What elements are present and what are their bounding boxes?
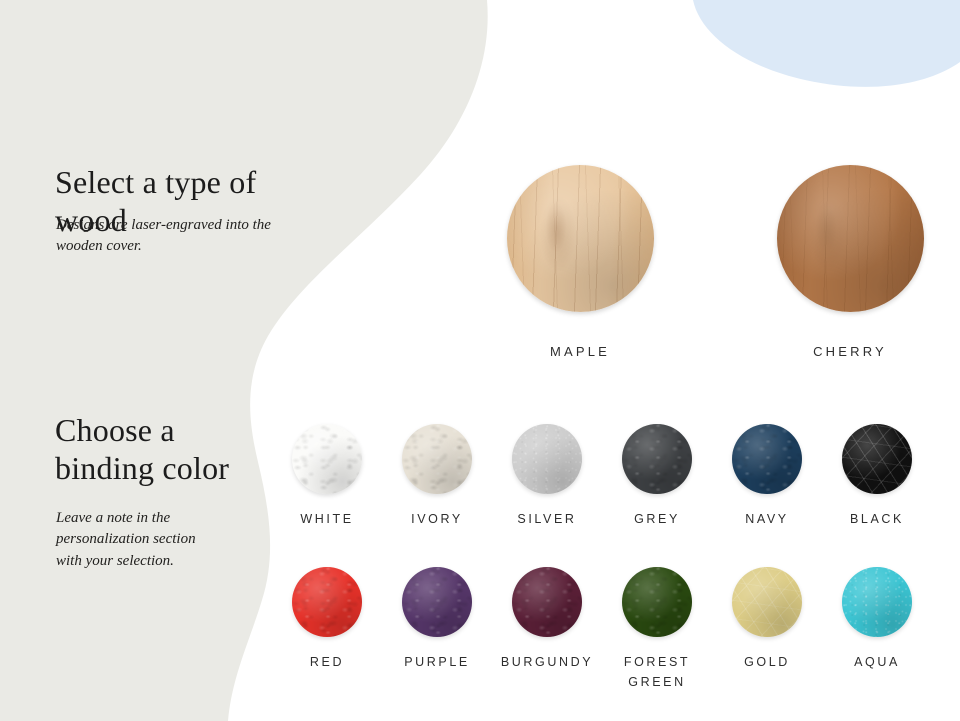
swatch-shading <box>402 424 472 494</box>
color-label-gold: GOLD <box>744 653 790 672</box>
color-swatch-ivory[interactable] <box>402 424 472 494</box>
color-label-black: BLACK <box>850 510 904 529</box>
swatch-shading <box>507 165 654 312</box>
swatch-shading <box>842 567 912 637</box>
color-option-grey[interactable]: GREY <box>602 424 712 529</box>
color-swatch-silver[interactable] <box>512 424 582 494</box>
color-option-gold[interactable]: GOLD <box>712 567 822 692</box>
color-label-burgundy: BURGUNDY <box>501 653 593 672</box>
color-option-white[interactable]: WHITE <box>272 424 382 529</box>
swatch-shading <box>842 424 912 494</box>
color-label-forest-green: FOREST GREEN <box>624 653 690 692</box>
color-label-white: WHITE <box>300 510 353 529</box>
swatch-shading <box>512 424 582 494</box>
color-option-purple[interactable]: PURPLE <box>382 567 492 692</box>
wood-option-cherry[interactable]: CHERRY <box>775 165 925 359</box>
color-option-navy[interactable]: NAVY <box>712 424 822 529</box>
wood-label-maple: MAPLE <box>550 344 610 359</box>
color-section-subtext: Leave a note in the personalization sect… <box>56 508 256 572</box>
swatch-shading <box>292 424 362 494</box>
swatch-shading <box>402 567 472 637</box>
color-label-navy: NAVY <box>745 510 789 529</box>
wood-swatch-row: MAPLE CHERRY <box>505 165 925 359</box>
binding-color-grid: WHITE IVORY SILVER <box>272 424 932 692</box>
color-section-heading: Choose a binding color <box>55 412 229 488</box>
swatch-shading <box>292 567 362 637</box>
swatch-shading <box>732 424 802 494</box>
color-label-purple: PURPLE <box>404 653 470 672</box>
binding-color-row-1: WHITE IVORY SILVER <box>272 424 932 529</box>
color-swatch-gold[interactable] <box>732 567 802 637</box>
color-label-silver: SILVER <box>517 510 576 529</box>
wood-swatch-cherry[interactable] <box>777 165 924 312</box>
wood-section-subtext: Designs are laser-engraved into the wood… <box>56 215 306 258</box>
swatch-shading <box>512 567 582 637</box>
color-swatch-purple[interactable] <box>402 567 472 637</box>
binding-color-row-2: RED PURPLE BURGUNDY <box>272 567 932 692</box>
swatch-shading <box>777 165 924 312</box>
color-label-aqua: AQUA <box>854 653 900 672</box>
color-swatch-black[interactable] <box>842 424 912 494</box>
color-option-aqua[interactable]: AQUA <box>822 567 932 692</box>
color-swatch-white[interactable] <box>292 424 362 494</box>
color-label-ivory: IVORY <box>411 510 463 529</box>
color-swatch-grey[interactable] <box>622 424 692 494</box>
swatch-shading <box>622 424 692 494</box>
color-option-silver[interactable]: SILVER <box>492 424 602 529</box>
copy-column: Select a type of wood Designs are laser-… <box>0 0 300 721</box>
color-label-red: RED <box>310 653 344 672</box>
wood-option-maple[interactable]: MAPLE <box>505 165 655 359</box>
color-option-burgundy[interactable]: BURGUNDY <box>492 567 602 692</box>
color-swatch-navy[interactable] <box>732 424 802 494</box>
color-swatch-forest-green[interactable] <box>622 567 692 637</box>
color-swatch-red[interactable] <box>292 567 362 637</box>
color-option-forest-green[interactable]: FOREST GREEN <box>602 567 712 692</box>
wood-swatch-maple[interactable] <box>507 165 654 312</box>
color-option-black[interactable]: BLACK <box>822 424 932 529</box>
wood-label-cherry: CHERRY <box>813 344 887 359</box>
color-label-grey: GREY <box>634 510 680 529</box>
color-option-ivory[interactable]: IVORY <box>382 424 492 529</box>
product-options-slide: Select a type of wood Designs are laser-… <box>0 0 960 721</box>
swatch-shading <box>732 567 802 637</box>
color-swatch-burgundy[interactable] <box>512 567 582 637</box>
swatch-shading <box>622 567 692 637</box>
color-swatch-aqua[interactable] <box>842 567 912 637</box>
color-option-red[interactable]: RED <box>272 567 382 692</box>
